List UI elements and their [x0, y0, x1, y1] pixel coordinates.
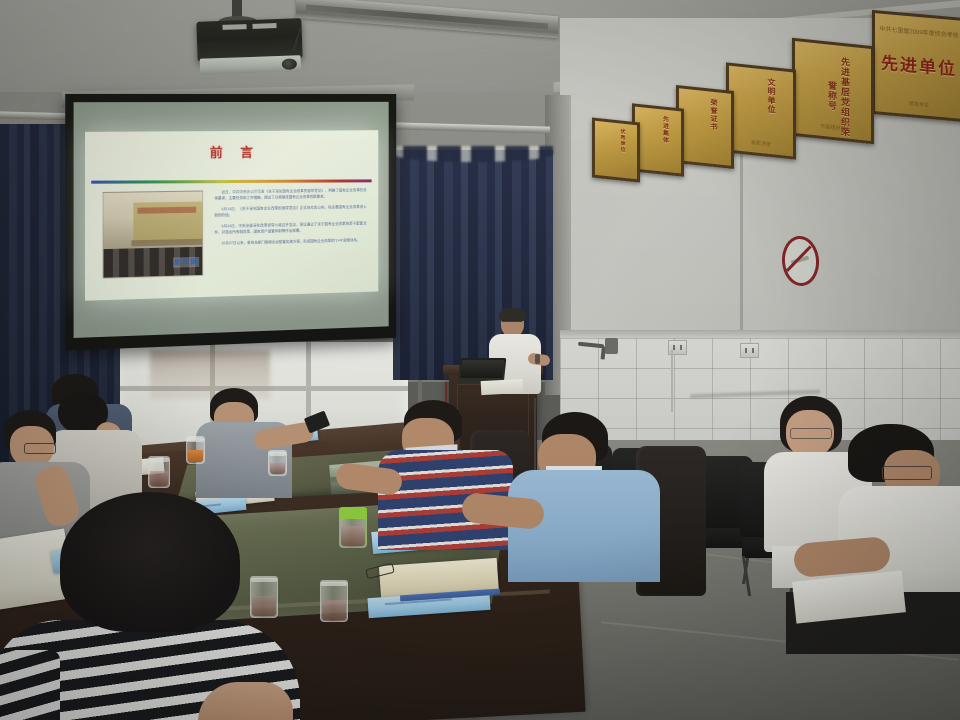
glass-tea-cup[interactable]: [148, 458, 170, 488]
presenter-glasses-icon: [502, 321, 522, 326]
award-plaque-6: 优秀单位: [592, 117, 640, 182]
award-plaque-3: 文明单位 表彰决定: [726, 62, 796, 159]
projector-mount: [232, 0, 242, 22]
glass-tea-cup[interactable]: [320, 582, 348, 622]
slide-photo-banner: [137, 207, 196, 214]
plaque-bottom-text: 表彰决定: [729, 137, 793, 151]
slide-photo-head-table: [131, 238, 202, 246]
slide-title: 前 言: [85, 141, 377, 163]
cup-contents: [341, 526, 365, 546]
wall-phone-box: [605, 338, 618, 354]
cup-lid: [339, 507, 367, 519]
slide-photo-watermark: 新华网: [173, 257, 199, 268]
glass-tea-cup[interactable]: [186, 438, 205, 464]
slide-paragraph: 近日，中共中央办公厅印发《关于深化国有企业改革的指导意见》，明确了国有企业改革的…: [214, 187, 366, 202]
eyeglasses-icon: [790, 428, 832, 439]
laptop-screen: [460, 360, 504, 378]
cup-contents: [150, 471, 168, 486]
plaque-main-text: 先进单位: [875, 48, 960, 81]
cup-contents: [188, 450, 203, 462]
plaque-main-text: 先进集体: [647, 114, 670, 144]
eyeglasses-icon: [882, 466, 932, 480]
slide-body-text: 近日，中共中央办公厅印发《关于深化国有企业改革的指导意见》，明确了国有企业改革的…: [214, 187, 366, 251]
conference-room-scene: 中共七里堡2009年度综合考核 先进单位 颁发单位 先进基层党组织荣誉称号 市委…: [0, 0, 960, 720]
cup-contents: [270, 463, 285, 474]
cup-lid: [320, 580, 348, 586]
cup-lid: [186, 436, 205, 442]
eyeglasses-icon: [24, 443, 56, 454]
cup-lid: [148, 456, 170, 462]
presenter-watch: [535, 354, 540, 364]
chair-leg: [742, 556, 751, 596]
cup-lid: [268, 450, 287, 456]
slide-paragraph: 9月13日，《关于深化国有企业改革的指导意见》正式向社会公布，标志着国有企业改革…: [214, 203, 366, 218]
award-plaque-advanced-unit: 中共七里堡2009年度综合考核 先进单位 颁发单位: [872, 10, 960, 122]
screen-surface: 前 言 新华网 近日，中共中央办公厅印发《关于深化国有企业改革的指导意见》，明确…: [74, 102, 389, 338]
slide-paragraph: 9月24日，中央全面深化改革领导小组召开会议，审议通过了关于国有企业改革的若干配…: [214, 220, 366, 236]
cup-contents: [322, 600, 346, 620]
award-plaque-2: 先进基层党组织荣誉称号 市委组织部: [792, 38, 874, 145]
presentation-slide: 前 言 新华网 近日，中共中央办公厅印发《关于深化国有企业改革的指导意见》，明确…: [85, 130, 377, 301]
attendee-striped-woman: [0, 500, 310, 720]
plaque-main-text: 优秀单位: [606, 127, 627, 153]
attendee-shoulder: [0, 650, 60, 720]
plaque-top-text: 中共七里堡2009年度综合考核: [875, 23, 960, 40]
glass-tea-cup[interactable]: [268, 452, 287, 476]
curtain-top-light-gap: [393, 146, 553, 162]
green-lid-cup[interactable]: [339, 508, 367, 548]
attendee-striped-polo-man: [378, 400, 513, 550]
attendee-reading-man: [838, 424, 960, 654]
award-plaque-4: 荣誉证书: [676, 85, 734, 169]
wall-cable: [671, 350, 673, 412]
podium-papers: [481, 379, 524, 395]
wall-outlet: [740, 343, 759, 358]
projector-vent: [252, 23, 276, 29]
plaque-main-text: 文明单位: [745, 76, 777, 115]
presenter-hair: [499, 308, 526, 322]
projection-screen[interactable]: 前 言 新华网 近日，中共中央办公厅印发《关于深化国有企业改革的指导意见》，明确…: [65, 94, 396, 351]
attendee-phone-man: [196, 388, 292, 498]
attendee-blue-polo-man: [510, 412, 660, 582]
slide-photo: 新华网: [102, 191, 203, 279]
plaque-bottom-text: 颁发单位: [875, 97, 960, 112]
slide-divider-rule: [92, 180, 373, 184]
plaque-main-text: 荣誉证书: [692, 97, 718, 132]
projector-vent: [222, 24, 246, 30]
attendee-hair: [60, 492, 240, 632]
projector-icon[interactable]: [196, 18, 302, 62]
slide-paragraph: 10月27日以来，各有关部门相继出台配套实施方案，形成国有企业改革的“1+N”政…: [214, 237, 366, 247]
